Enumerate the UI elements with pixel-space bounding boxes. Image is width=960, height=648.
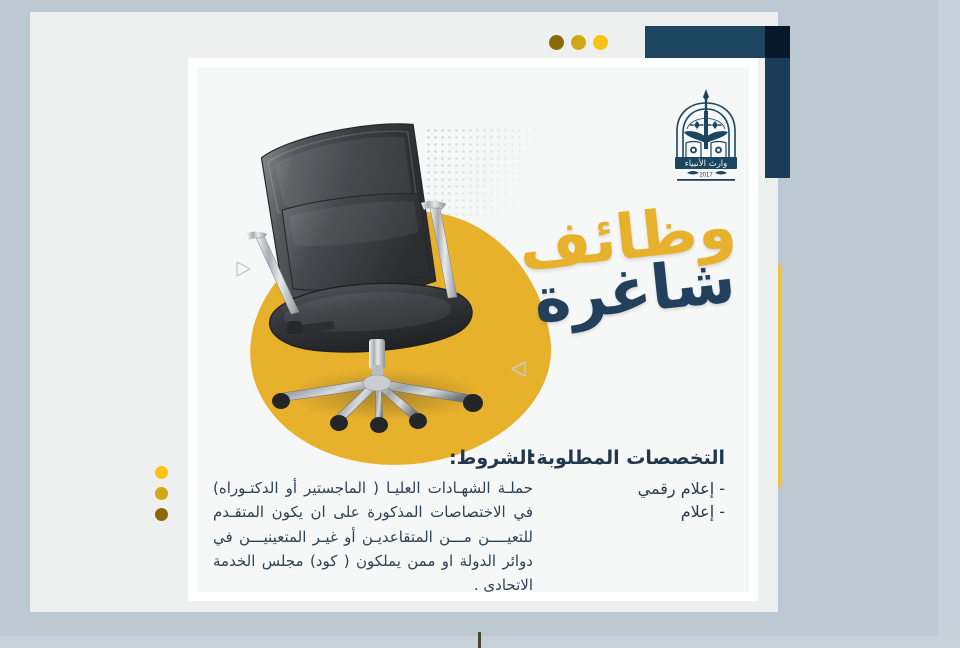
dot-icon [155,487,168,500]
dot-icon [155,466,168,479]
university-logo: وارث الأنبياء 2017 [663,85,749,183]
dot-icon [571,35,586,50]
background-band-right [938,0,960,648]
poster-card-inner: وارث الأنبياء 2017 وظائف شاغرة التخصصات … [197,67,749,592]
poster-card: وارث الأنبياء 2017 وظائف شاغرة التخصصات … [188,58,758,601]
headline-line-2: شاغرة [531,249,738,332]
dot-icon [593,35,608,50]
dot-icon [549,35,564,50]
poster-canvas: وارث الأنبياء 2017 وظائف شاغرة التخصصات … [0,0,960,648]
decor-dots-left [155,466,171,526]
conditions-block: الشروط: حملـة الشهـادات العليـا ( الماجس… [213,447,533,592]
dot-icon [155,508,168,521]
decor-dots-top [549,35,611,53]
poster-headline: وظائف شاغرة [497,195,747,315]
conditions-body: حملـة الشهـادات العليـا ( الماجستير أو ا… [213,476,533,592]
decor-navy-bar-corner [765,26,790,58]
svg-text:وارث الأنبياء: وارث الأنبياء [685,158,728,169]
svg-text:2017: 2017 [699,173,713,179]
office-chair-image [225,107,525,437]
decor-yellow-vertical-line [778,265,781,487]
conditions-title: الشروط: [213,447,533,469]
decor-navy-bar-horizontal [645,26,765,58]
decor-navy-bar-vertical [765,58,790,178]
decor-bottom-tick [478,632,481,648]
